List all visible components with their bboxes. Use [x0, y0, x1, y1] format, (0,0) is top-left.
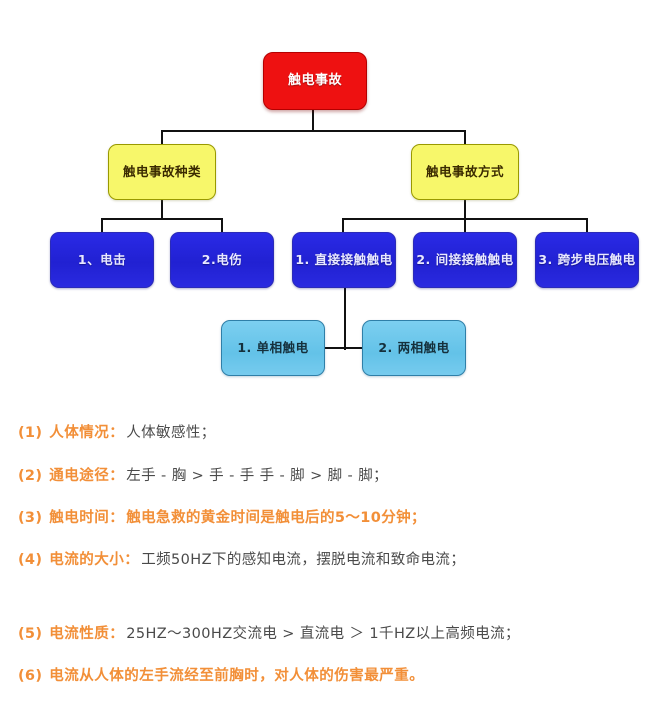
node-single-phase-shock[interactable]: 1. 单相触电 [221, 320, 325, 376]
electric-shock-accident-tree-diagram: 触电事故 触电事故种类 触电事故方式 1、电击 2.电伤 1. 直接接触触电 2… [0, 0, 664, 400]
node-indirect-contact-label: 2. 间接接触触电 [416, 253, 513, 267]
list-item-number: (6) [18, 668, 42, 684]
node-step-voltage[interactable]: 3. 跨步电压触电 [535, 232, 639, 288]
list-item-number: (4) [18, 552, 42, 568]
connector-level2-right-drop [464, 130, 466, 145]
list-item-key: 电流性质： [49, 626, 124, 642]
node-direct-contact[interactable]: 1. 直接接触触电 [292, 232, 396, 288]
list-item-number: (3) [18, 510, 42, 526]
connector-kinds-bus [101, 218, 223, 220]
list-item-key: 电流的大小： [49, 552, 139, 568]
list-item-number: (1) [18, 425, 42, 441]
node-accident-modes[interactable]: 触电事故方式 [411, 144, 519, 200]
node-indirect-contact[interactable]: 2. 间接接触触电 [413, 232, 517, 288]
list-item-number: (2) [18, 468, 42, 484]
node-step-voltage-label: 3. 跨步电压触电 [538, 253, 635, 267]
connector-level2-left-drop [161, 130, 163, 145]
connector-modes-stem [464, 200, 466, 220]
node-root-label: 触电事故 [288, 74, 342, 89]
list-item-value: 人体敏感性； [126, 425, 215, 441]
list-item-number: (5) [18, 626, 42, 642]
connector-kinds-drop-2 [221, 218, 223, 233]
node-electric-shock-label: 1、电击 [78, 253, 126, 267]
list-item: (4)电流的大小：工频50HZ下的感知电流，摆脱电流和致命电流； [18, 548, 658, 569]
connector-direct-contact-stem [344, 288, 346, 350]
list-item-value: 工频50HZ下的感知电流，摆脱电流和致命电流； [141, 552, 465, 568]
list-item-key: 触电时间： [49, 510, 124, 526]
node-single-phase-shock-label: 1. 单相触电 [237, 341, 308, 355]
list-item: (1)人体情况：人体敏感性； [18, 421, 658, 442]
connector-kinds-drop-1 [101, 218, 103, 233]
connector-modes-drop-3 [586, 218, 588, 233]
node-two-phase-shock[interactable]: 2. 两相触电 [362, 320, 466, 376]
list-item-key: 电流从人体的左手流经至前胸时，对人体的伤害最严重。 [49, 668, 424, 684]
connector-modes-drop-1 [342, 218, 344, 233]
list-item-key: 人体情况： [49, 425, 124, 441]
node-accident-modes-label: 触电事故方式 [426, 165, 504, 179]
node-electric-injury-label: 2.电伤 [202, 253, 242, 267]
connector-level2-bus [161, 130, 466, 132]
node-electric-shock[interactable]: 1、电击 [50, 232, 154, 288]
node-electric-injury[interactable]: 2.电伤 [170, 232, 274, 288]
list-item-value: 触电急救的黄金时间是触电后的5～10分钟； [126, 510, 426, 526]
list-item: (2)通电途径：左手 - 胸 > 手 - 手 手 - 脚 > 脚 - 脚； [18, 464, 658, 485]
node-root-electric-shock-accident[interactable]: 触电事故 [263, 52, 367, 110]
list-item-value: 25HZ～300HZ交流电 > 直流电 ＞ 1千HZ以上高频电流； [126, 626, 520, 642]
list-item: (3)触电时间：触电急救的黄金时间是触电后的5～10分钟； [18, 506, 658, 527]
list-item: (5)电流性质：25HZ～300HZ交流电 > 直流电 ＞ 1千HZ以上高频电流… [18, 622, 658, 643]
list-item-value: 左手 - 胸 > 手 - 手 手 - 脚 > 脚 - 脚； [126, 468, 388, 484]
connector-modes-drop-2 [464, 218, 466, 233]
node-accident-kinds[interactable]: 触电事故种类 [108, 144, 216, 200]
connector-kinds-stem [161, 200, 163, 220]
connector-root-stem [312, 110, 314, 132]
node-accident-kinds-label: 触电事故种类 [123, 165, 201, 179]
node-direct-contact-label: 1. 直接接触触电 [295, 253, 392, 267]
node-two-phase-shock-label: 2. 两相触电 [378, 341, 449, 355]
list-item: (6)电流从人体的左手流经至前胸时，对人体的伤害最严重。 [18, 664, 658, 685]
connector-direct-contact-bus [322, 347, 366, 349]
list-item-key: 通电途径： [49, 468, 124, 484]
